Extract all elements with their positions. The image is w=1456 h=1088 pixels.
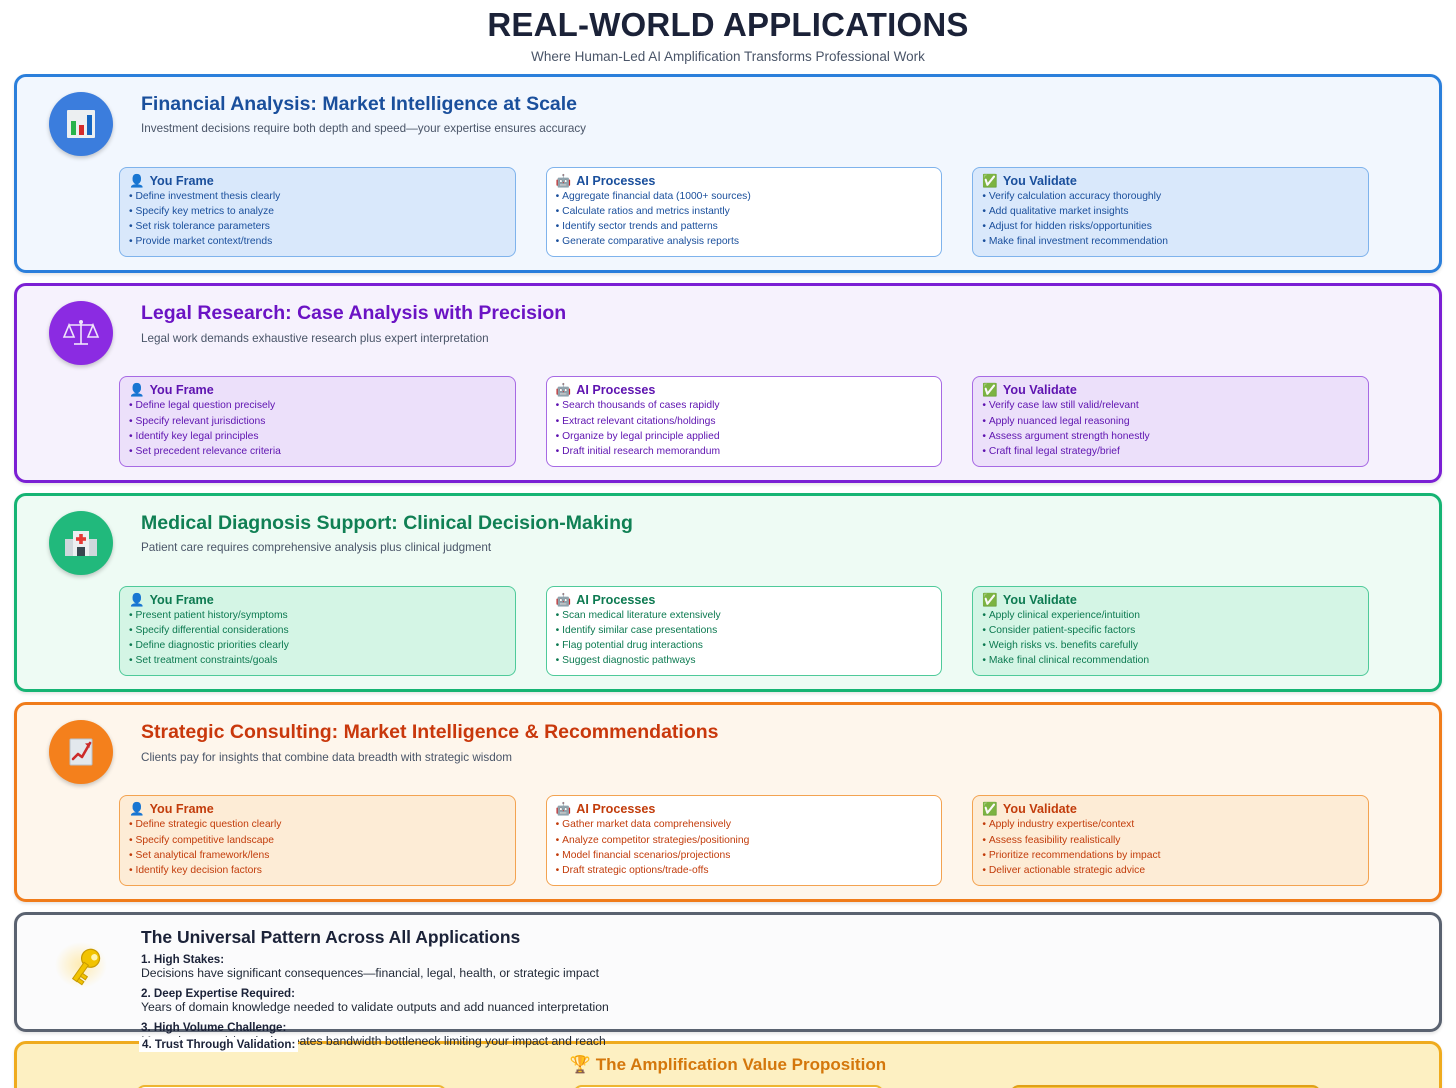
list-item: Set treatment constraints/goals	[129, 653, 506, 668]
check-mark-icon: ✅	[982, 594, 998, 607]
column-title: 🤖 AI Processes	[556, 593, 933, 607]
section-header: Medical Diagnosis Support: Clinical Deci…	[31, 508, 1425, 575]
list-item: Prioritize recommendations by impact	[982, 848, 1359, 863]
list-item: Provide market context/trends	[129, 234, 506, 249]
person-icon: 👤	[129, 384, 145, 397]
list-item: Specify differential considerations	[129, 623, 506, 638]
list-item: Specify relevant jurisdictions	[129, 414, 506, 429]
pattern-item-label: 3. High Volume Challenge:	[141, 1021, 609, 1034]
column-title: ✅ You Validate	[982, 383, 1359, 397]
list-item: Draft initial research memorandum	[556, 444, 933, 459]
section-header: Financial Analysis: Market Intelligence …	[31, 89, 1425, 156]
column-bullet-list: Apply clinical experience/intuition Cons…	[982, 608, 1359, 669]
section-title: Legal Research: Case Analysis with Preci…	[141, 302, 566, 324]
column-title-label: You Validate	[1003, 174, 1077, 188]
list-item: Set precedent relevance criteria	[129, 444, 506, 459]
list-item: Organize by legal principle applied	[556, 429, 933, 444]
column-title: 👤 You Frame	[129, 383, 506, 397]
column-you-frame: 👤 You Frame Define legal question precis…	[119, 376, 516, 467]
section-description: Legal work demands exhaustive research p…	[141, 332, 566, 345]
column-title-label: AI Processes	[576, 802, 655, 816]
list-item: Gather market data comprehensively	[556, 817, 933, 832]
list-item: Assess argument strength honestly	[982, 429, 1359, 444]
list-item: Identify key decision factors	[129, 863, 506, 878]
column-title-label: You Frame	[150, 383, 214, 397]
list-item: Identify key legal principles	[129, 429, 506, 444]
section-description: Clients pay for insights that combine da…	[141, 751, 719, 764]
list-item: Verify calculation accuracy thoroughly	[982, 189, 1359, 204]
column-ai-processes: 🤖 AI Processes Gather market data compre…	[546, 795, 943, 886]
column-you-frame: 👤 You Frame Present patient history/symp…	[119, 586, 516, 677]
list-item: Add qualitative market insights	[982, 204, 1359, 219]
column-you-frame: 👤 You Frame Define strategic question cl…	[119, 795, 516, 886]
list-item: Make final clinical recommendation	[982, 653, 1359, 668]
column-title: ✅ You Validate	[982, 174, 1359, 188]
list-item: Analyze competitor strategies/positionin…	[556, 833, 933, 848]
column-title: 👤 You Frame	[129, 802, 506, 816]
list-item: Consider patient-specific factors	[982, 623, 1359, 638]
column-bullet-list: Verify calculation accuracy thoroughly A…	[982, 189, 1359, 250]
list-item: Aggregate financial data (1000+ sources)	[556, 189, 933, 204]
section-columns: 👤 You Frame Define legal question precis…	[31, 376, 1425, 467]
column-title: 👤 You Frame	[129, 174, 506, 188]
upward-chart-icon	[49, 720, 113, 784]
list-item: Identify similar case presentations	[556, 623, 933, 638]
column-title-label: You Frame	[150, 174, 214, 188]
column-you-validate: ✅ You Validate Verify calculation accura…	[972, 167, 1369, 258]
column-ai-processes: 🤖 AI Processes Search thousands of cases…	[546, 376, 943, 467]
list-item: Flag potential drug interactions	[556, 638, 933, 653]
column-bullet-list: Define investment thesis clearly Specify…	[129, 189, 506, 250]
robot-icon: 🤖	[556, 803, 572, 816]
column-you-validate: ✅ You Validate Apply clinical experience…	[972, 586, 1369, 677]
column-title-label: You Validate	[1003, 802, 1077, 816]
column-bullet-list: Define strategic question clearly Specif…	[129, 817, 506, 878]
column-title-label: You Validate	[1003, 593, 1077, 607]
column-you-validate: ✅ You Validate Apply industry expertise/…	[972, 795, 1369, 886]
person-icon: 👤	[129, 594, 145, 607]
section-columns: 👤 You Frame Define strategic question cl…	[31, 795, 1425, 886]
column-title: 🤖 AI Processes	[556, 174, 933, 188]
column-title: 🤖 AI Processes	[556, 383, 933, 397]
section-header: Strategic Consulting: Market Intelligenc…	[31, 717, 1425, 784]
list-item: Make final investment recommendation	[982, 234, 1359, 249]
list-item: Suggest diagnostic pathways	[556, 653, 933, 668]
column-title: 🤖 AI Processes	[556, 802, 933, 816]
section-financial-analysis: Financial Analysis: Market Intelligence …	[14, 74, 1442, 274]
column-bullet-list: Scan medical literature extensively Iden…	[556, 608, 933, 669]
column-ai-processes: 🤖 AI Processes Aggregate financial data …	[546, 167, 943, 258]
column-ai-processes: 🤖 AI Processes Scan medical literature e…	[546, 586, 943, 677]
section-medical-diagnosis-support: Medical Diagnosis Support: Clinical Deci…	[14, 493, 1442, 693]
pattern-item-label: 1. High Stakes:	[141, 953, 609, 966]
pattern-item-text: Decisions have significant consequences—…	[141, 966, 609, 982]
list-item: Set analytical framework/lens	[129, 848, 506, 863]
person-icon: 👤	[129, 175, 145, 188]
list-item: Define strategic question clearly	[129, 817, 506, 832]
section-columns: 👤 You Frame Define investment thesis cle…	[31, 167, 1425, 258]
list-item: Verify case law still valid/relevant	[982, 398, 1359, 413]
list-item: Apply industry expertise/context	[982, 817, 1359, 832]
robot-icon: 🤖	[556, 384, 572, 397]
list-item: Apply nuanced legal reasoning	[982, 414, 1359, 429]
list-item: Assess feasibility realistically	[982, 833, 1359, 848]
list-item: Specify key metrics to analyze	[129, 204, 506, 219]
check-mark-icon: ✅	[982, 175, 998, 188]
list-item: Extract relevant citations/holdings	[556, 414, 933, 429]
bar-chart-icon	[49, 92, 113, 156]
list-item: Calculate ratios and metrics instantly	[556, 204, 933, 219]
column-bullet-list: Define legal question precisely Specify …	[129, 398, 506, 459]
pattern-item-text: Years of domain knowledge needed to vali…	[141, 1000, 609, 1016]
column-bullet-list: Verify case law still valid/relevant App…	[982, 398, 1359, 459]
list-item: Define diagnostic priorities clearly	[129, 638, 506, 653]
list-item: Define investment thesis clearly	[129, 189, 506, 204]
list-item: Identify sector trends and patterns	[556, 219, 933, 234]
column-bullet-list: Aggregate financial data (1000+ sources)…	[556, 189, 933, 250]
column-you-validate: ✅ You Validate Verify case law still val…	[972, 376, 1369, 467]
section-columns: 👤 You Frame Present patient history/symp…	[31, 586, 1425, 677]
page-title: REAL-WORLD APPLICATIONS	[0, 6, 1456, 44]
list-item: Deliver actionable strategic advice	[982, 863, 1359, 878]
section-description: Patient care requires comprehensive anal…	[141, 541, 633, 554]
list-item: Set risk tolerance parameters	[129, 219, 506, 234]
person-icon: 👤	[129, 803, 145, 816]
list-item: Specify competitive landscape	[129, 833, 506, 848]
application-sections: Financial Analysis: Market Intelligence …	[0, 74, 1456, 902]
section-title: Medical Diagnosis Support: Clinical Deci…	[141, 512, 633, 534]
column-title-label: AI Processes	[576, 174, 655, 188]
column-title-label: AI Processes	[576, 593, 655, 607]
column-title: ✅ You Validate	[982, 802, 1359, 816]
universal-pattern-panel: The Universal Pattern Across All Applica…	[14, 912, 1442, 1032]
column-title: ✅ You Validate	[982, 593, 1359, 607]
section-title: Strategic Consulting: Market Intelligenc…	[141, 721, 719, 743]
section-heading-text: Strategic Consulting: Market Intelligenc…	[141, 717, 719, 763]
pattern-item-label: 2. Deep Expertise Required:	[141, 987, 609, 1000]
page-subtitle: Where Human-Led AI Amplification Transfo…	[0, 49, 1456, 64]
list-item: Define legal question precisely	[129, 398, 506, 413]
hospital-icon	[49, 511, 113, 575]
column-title-label: You Validate	[1003, 383, 1077, 397]
section-title: Financial Analysis: Market Intelligence …	[141, 93, 586, 115]
list-item: Search thousands of cases rapidly	[556, 398, 933, 413]
robot-icon: 🤖	[556, 594, 572, 607]
list-item: Present patient history/symptoms	[129, 608, 506, 623]
universal-pattern-title: The Universal Pattern Across All Applica…	[141, 927, 609, 948]
key-icon	[49, 941, 113, 994]
column-title-label: You Frame	[150, 593, 214, 607]
column-bullet-list: Apply industry expertise/context Assess …	[982, 817, 1359, 878]
section-heading-text: Legal Research: Case Analysis with Preci…	[141, 298, 566, 344]
section-heading-text: Medical Diagnosis Support: Clinical Deci…	[141, 508, 633, 554]
list-item: Weigh risks vs. benefits carefully	[982, 638, 1359, 653]
section-heading-text: Financial Analysis: Market Intelligence …	[141, 89, 586, 135]
section-legal-research: Legal Research: Case Analysis with Preci…	[14, 283, 1442, 483]
infographic-page: REAL-WORLD APPLICATIONS Where Human-Led …	[0, 0, 1456, 1088]
column-title-label: AI Processes	[576, 383, 655, 397]
section-description: Investment decisions require both depth …	[141, 122, 586, 135]
list-item: Model financial scenarios/projections	[556, 848, 933, 863]
trophy-icon: 🏆	[570, 1055, 591, 1074]
list-item: Scan medical literature extensively	[556, 608, 933, 623]
check-mark-icon: ✅	[982, 803, 998, 816]
column-bullet-list: Gather market data comprehensively Analy…	[556, 817, 933, 878]
list-item: Adjust for hidden risks/opportunities	[982, 219, 1359, 234]
column-title: 👤 You Frame	[129, 593, 506, 607]
scales-of-justice-icon	[49, 301, 113, 365]
pattern-item-overflow-label: 4. Trust Through Validation:	[139, 1037, 298, 1052]
column-title-label: You Frame	[150, 802, 214, 816]
check-mark-icon: ✅	[982, 384, 998, 397]
section-strategic-consulting: Strategic Consulting: Market Intelligenc…	[14, 702, 1442, 902]
value-proposition-title: 🏆 The Amplification Value Proposition	[33, 1055, 1423, 1075]
universal-pattern-text: The Universal Pattern Across All Applica…	[141, 925, 609, 1050]
robot-icon: 🤖	[556, 175, 572, 188]
list-item: Generate comparative analysis reports	[556, 234, 933, 249]
column-you-frame: 👤 You Frame Define investment thesis cle…	[119, 167, 516, 258]
section-header: Legal Research: Case Analysis with Preci…	[31, 298, 1425, 365]
list-item: Apply clinical experience/intuition	[982, 608, 1359, 623]
value-proposition-title-label: The Amplification Value Proposition	[596, 1055, 886, 1074]
universal-pattern-content: The Universal Pattern Across All Applica…	[31, 925, 1425, 1050]
column-bullet-list: Search thousands of cases rapidly Extrac…	[556, 398, 933, 459]
page-header: REAL-WORLD APPLICATIONS Where Human-Led …	[0, 0, 1456, 64]
list-item: Draft strategic options/trade-offs	[556, 863, 933, 878]
column-bullet-list: Present patient history/symptoms Specify…	[129, 608, 506, 669]
list-item: Craft final legal strategy/brief	[982, 444, 1359, 459]
